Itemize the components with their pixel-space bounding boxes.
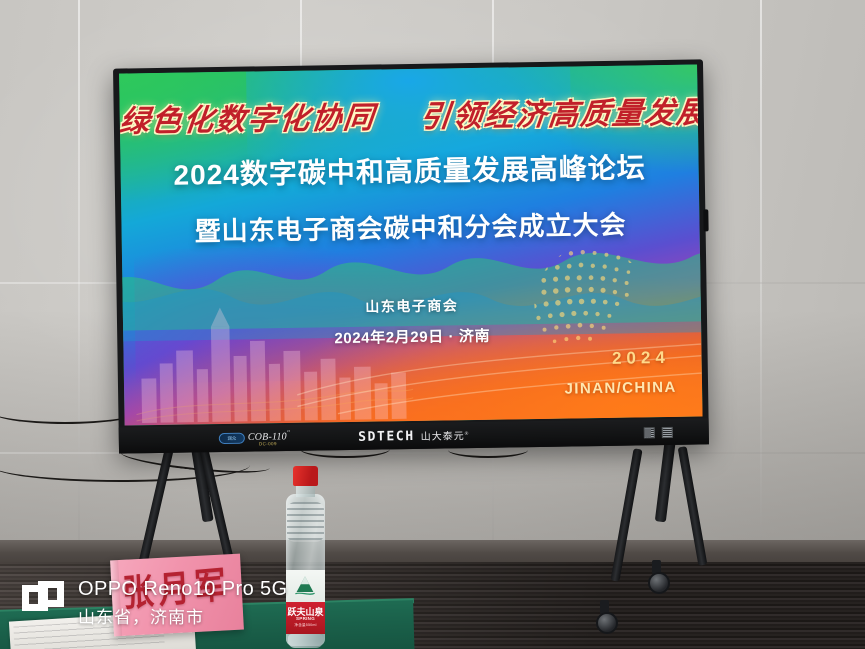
calligraphy-right: 引领经济高质量发展 <box>419 96 703 134</box>
bottle-base <box>288 634 323 648</box>
manufacturer-logo-icon: 润众 <box>219 433 245 444</box>
led-display[interactable]: 绿色化数字化协同 引领经济高质量发展 2024数字碳中和高质量发展高峰论坛 暨山… <box>113 59 709 453</box>
qr-code-pair <box>644 426 673 437</box>
camera-watermark: OPPO Reno10 Pro 5G 山东省，济南市 <box>22 578 288 628</box>
model-badge: 润众 COB-110" DC-009 <box>219 430 290 448</box>
model-code: DC-009 <box>259 442 290 447</box>
oppo-logo-icon <box>22 581 66 625</box>
stand-caster <box>648 572 670 594</box>
mountain-spring-icon <box>293 574 317 597</box>
calligraphy-left: 绿色化数字化协同 <box>119 101 377 138</box>
photo-canvas: 绿色化数字化协同 引领经济高质量发展 2024数字碳中和高质量发展高峰论坛 暨山… <box>0 0 865 649</box>
display-screen[interactable]: 绿色化数字化协同 引领经济高质量发展 2024数字碳中和高质量发展高峰论坛 暨山… <box>119 64 702 425</box>
model-unit: " <box>287 429 290 437</box>
oppo-square-front <box>38 581 64 607</box>
watermark-location: 山东省，济南市 <box>78 603 288 628</box>
model-text-group: COB-110" DC-009 <box>248 430 290 447</box>
screen-corner-city: JINAN/CHINA <box>564 379 676 398</box>
registered-mark: ® <box>465 432 470 437</box>
brand-latin: SDTECH <box>358 429 415 445</box>
display-bezel: 绿色化数字化协同 引领经济高质量发展 2024数字碳中和高质量发展高峰论坛 暨山… <box>113 59 709 453</box>
bottle-brand-en: SPRING <box>286 616 325 621</box>
brand-cn: 山大泰元® <box>421 427 470 443</box>
watermark-text: OPPO Reno10 Pro 5G 山东省，济南市 <box>78 578 288 628</box>
stand-caster <box>596 612 618 634</box>
bottle-cap <box>293 466 318 486</box>
screen-corner-year: 2024 <box>612 348 670 369</box>
brand-group: SDTECH 山大泰元® <box>358 427 470 445</box>
qr-code-icon <box>644 427 655 438</box>
brand-cn-text: 山大泰元 <box>421 431 465 443</box>
bottle-neck <box>296 485 315 497</box>
bottle-ribs <box>287 502 324 542</box>
watermark-device: OPPO Reno10 Pro 5G <box>78 578 288 601</box>
qr-code-icon <box>662 426 673 437</box>
water-bottle: 跃夫山泉 SPRING 净含量550ml <box>281 466 329 649</box>
display-side-button[interactable] <box>703 209 708 231</box>
bottle-volume: 净含量550ml <box>286 623 325 628</box>
screen-calligraphy-headline: 绿色化数字化协同 引领经济高质量发展 <box>119 87 700 140</box>
